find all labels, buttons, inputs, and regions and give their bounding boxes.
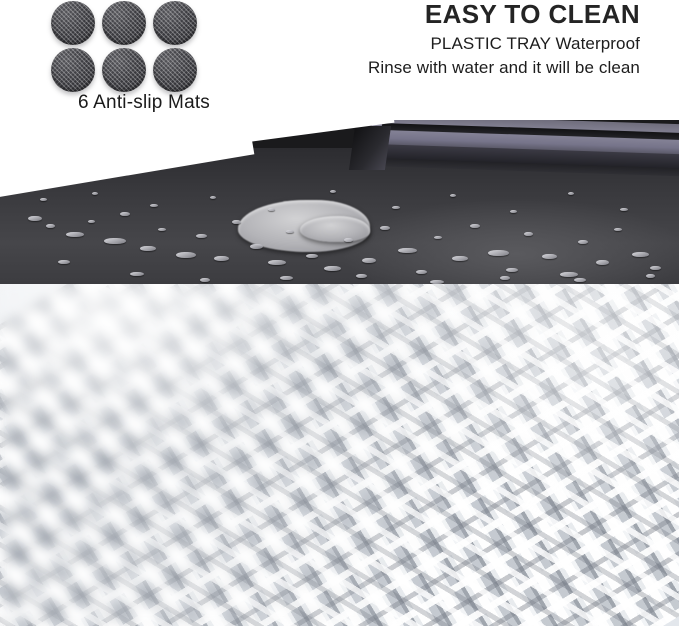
water-droplet bbox=[140, 246, 156, 251]
water-droplet bbox=[40, 198, 47, 201]
water-droplet bbox=[560, 272, 578, 277]
water-droplet bbox=[434, 236, 442, 239]
water-droplet bbox=[130, 272, 144, 276]
water-droplet bbox=[500, 276, 510, 280]
grate-depth-of-field-blur bbox=[0, 284, 679, 626]
anti-slip-mat bbox=[102, 48, 146, 92]
water-droplet bbox=[344, 238, 353, 242]
water-droplet bbox=[250, 244, 263, 249]
anti-slip-mat bbox=[102, 1, 146, 45]
water-droplet bbox=[268, 260, 286, 265]
water-droplet bbox=[568, 192, 574, 195]
water-droplet bbox=[280, 276, 293, 280]
water-droplet bbox=[380, 226, 390, 230]
water-droplet bbox=[392, 206, 400, 209]
drainage-grate-panel: DRAINAGE GRATE Special drainage design f… bbox=[0, 284, 679, 626]
water-droplet bbox=[542, 254, 557, 259]
water-droplet bbox=[646, 274, 655, 278]
anti-slip-mat bbox=[153, 48, 197, 92]
water-droplet bbox=[416, 270, 427, 274]
water-droplet bbox=[324, 266, 341, 271]
water-droplet bbox=[450, 194, 456, 197]
easy-to-clean-panel: EASY TO CLEAN PLASTIC TRAY Waterproof Ri… bbox=[0, 0, 679, 284]
water-droplet bbox=[88, 220, 95, 223]
anti-slip-mats-group: 6 Anti-slip Mats bbox=[49, 0, 239, 120]
water-droplet bbox=[470, 224, 480, 228]
water-droplet bbox=[66, 232, 84, 237]
easy-to-clean-text-block: EASY TO CLEAN PLASTIC TRAY Waterproof Ri… bbox=[260, 0, 640, 79]
water-droplet bbox=[578, 240, 588, 244]
water-droplet bbox=[330, 190, 336, 193]
water-droplet bbox=[452, 256, 468, 261]
anti-slip-mat bbox=[153, 1, 197, 45]
water-droplet bbox=[58, 260, 70, 264]
wet-tray-photo bbox=[0, 120, 679, 284]
anti-slip-mats-caption: 6 Anti-slip Mats bbox=[14, 92, 274, 114]
water-droplet bbox=[196, 234, 207, 238]
easy-to-clean-subline-2: Rinse with water and it will be clean bbox=[260, 56, 640, 79]
water-droplet bbox=[356, 274, 367, 278]
tray-corner bbox=[349, 126, 391, 170]
water-droplet bbox=[210, 196, 216, 199]
water-droplet bbox=[362, 258, 376, 263]
water-droplet bbox=[620, 208, 628, 211]
water-droplet bbox=[150, 204, 158, 207]
product-feature-image: EASY TO CLEAN PLASTIC TRAY Waterproof Ri… bbox=[0, 0, 679, 626]
water-droplet bbox=[488, 250, 509, 256]
water-droplet bbox=[232, 220, 241, 224]
water-droplet bbox=[574, 278, 586, 282]
easy-to-clean-headline: EASY TO CLEAN bbox=[260, 0, 640, 28]
water-droplet bbox=[46, 224, 55, 228]
water-droplet bbox=[268, 208, 275, 211]
water-droplet bbox=[214, 256, 229, 261]
water-droplet bbox=[614, 228, 622, 231]
anti-slip-mat bbox=[51, 1, 95, 45]
anti-slip-mats-grid bbox=[49, 0, 239, 90]
water-droplet bbox=[510, 210, 517, 213]
water-droplet bbox=[506, 268, 518, 272]
water-droplet bbox=[650, 266, 661, 270]
water-droplet bbox=[104, 238, 126, 244]
water-droplet bbox=[596, 260, 609, 265]
water-droplet bbox=[524, 232, 533, 236]
water-droplet bbox=[120, 212, 130, 216]
water-droplet bbox=[92, 192, 98, 195]
anti-slip-mat bbox=[51, 48, 95, 92]
water-droplet bbox=[176, 252, 196, 258]
water-droplet bbox=[632, 252, 649, 257]
water-droplet bbox=[306, 254, 318, 258]
easy-to-clean-subline-1: PLASTIC TRAY Waterproof bbox=[260, 32, 640, 55]
water-droplet bbox=[158, 228, 166, 231]
water-droplet bbox=[398, 248, 417, 253]
water-droplet bbox=[286, 230, 294, 233]
water-puddle bbox=[300, 216, 370, 242]
water-droplet bbox=[28, 216, 42, 221]
water-droplet bbox=[200, 278, 210, 282]
